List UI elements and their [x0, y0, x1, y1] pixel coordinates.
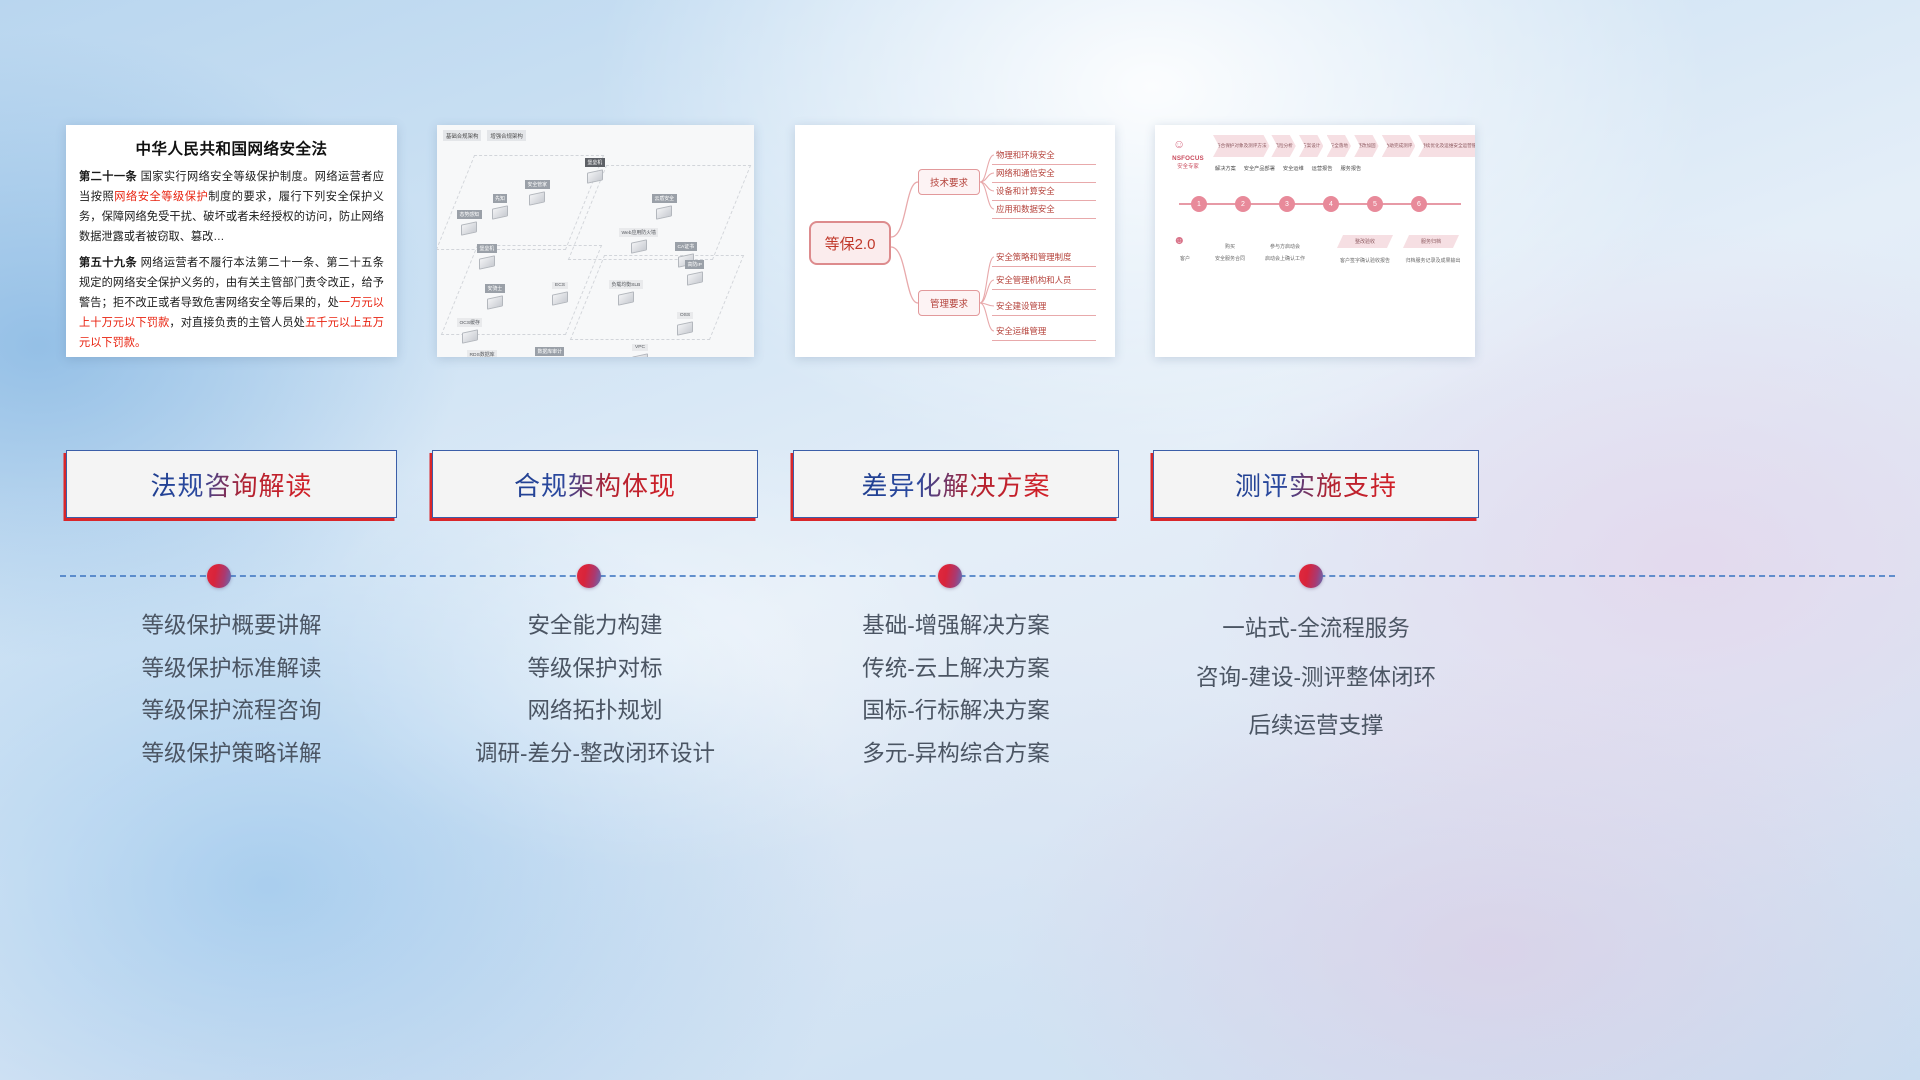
law-card-body: 中华人民共和国网络安全法 第二十一条 国家实行网络安全等级保护制度。网络运营者应… [66, 125, 397, 357]
mindmap-card[interactable]: 等保2.0 技术要求 管理要求 物理和环境安全 网络和通信安全 设备和计算安全 … [795, 125, 1115, 357]
architecture-tab-basic[interactable]: 基础合规架构 [443, 130, 481, 141]
label-text: 差异化解决方案 [861, 466, 1050, 503]
roadmap-header-chips: 符合保护对象及测评方法风险分析方案设计安全落地整改加固协助完成测评持续优化及运维… [1163, 135, 1467, 161]
list-item: 传统-云上解决方案 [793, 648, 1119, 691]
card-row: 中华人民共和国网络安全法 第二十一条 国家实行网络安全等级保护制度。网络运营者应… [0, 125, 1920, 360]
server-box-icon [487, 295, 503, 309]
roadmap-header-chip: 协助完成测评 [1382, 135, 1416, 157]
architecture-node: 堡垒机 [477, 237, 497, 268]
list-item: 国标-行标解决方案 [793, 690, 1119, 733]
list-item: 多元-异构综合方案 [793, 733, 1119, 776]
server-box-icon [656, 205, 672, 219]
label-box-differentiated-solution[interactable]: 差异化解决方案 [793, 450, 1119, 518]
roadmap-footer-kickoff: 参与方启动会 [1259, 243, 1311, 250]
architecture-node: 堡垒机 [585, 151, 605, 182]
server-box-icon [479, 255, 495, 269]
detail-column-differentiated-solution: 基础-增强解决方案 传统-云上解决方案 国标-行标解决方案 多元-异构综合方案 [793, 605, 1119, 775]
law-article-2: 第五十九条 网络运营者不履行本法第二十一条、第二十五条规定的网络安全保护义务的，… [79, 254, 384, 354]
server-box-icon [587, 169, 603, 183]
label-text: 合规架构体现 [514, 466, 676, 503]
list-item: 等级保护概要讲解 [66, 605, 397, 648]
mindmap: 等保2.0 技术要求 管理要求 物理和环境安全 网络和通信安全 设备和计算安全 … [795, 125, 1115, 357]
list-item: 调研-差分-整改闭环设计 [432, 733, 758, 776]
architecture-node-label: OCS缓存 [457, 318, 482, 327]
server-box-icon [552, 291, 568, 305]
architecture-node-label: 高防IP [685, 260, 704, 269]
law-article-1-number: 第二十一条 [79, 171, 137, 183]
architecture-node-label: CA证书 [675, 242, 697, 251]
roadmap-footer-customer: 客户 [1163, 255, 1207, 262]
architecture-node-label: ECS [552, 282, 567, 289]
roadmap: ☺ NSFOCUS 安全专家 符合保护对象及测评方法风险分析方案设计安全落地整改… [1155, 125, 1475, 357]
list-item: 一站式-全流程服务 [1153, 605, 1479, 654]
architecture-node: VPC [632, 335, 648, 357]
architecture-tab-enhanced[interactable]: 增强合规架构 [487, 130, 525, 141]
roadmap-footer-kickoff-sub: 启动会上确认工作 [1255, 255, 1315, 262]
roadmap-card[interactable]: ☺ NSFOCUS 安全专家 符合保护对象及测评方法风险分析方案设计安全落地整改… [1155, 125, 1475, 357]
mindmap-leaf: 应用和数据安全 [992, 201, 1096, 219]
architecture-node-label: 云盾安全 [652, 194, 677, 203]
architecture-node: 态势感知 [457, 203, 482, 234]
architecture-node-label: Web应用防火墙 [619, 228, 658, 237]
roadmap-header-chip: 方案设计 [1299, 135, 1323, 157]
roadmap-header-chip: 风险分析 [1271, 135, 1295, 157]
architecture-tabs: 基础合规架构 增强合规架构 [443, 130, 526, 141]
timeline-dashed-line [60, 575, 1895, 577]
architecture-node-label: 先知 [493, 194, 508, 203]
roadmap-header-chip: 安全落地 [1327, 135, 1351, 157]
architecture-node-label: 安骑士 [485, 284, 505, 293]
timeline-dot-1[interactable] [207, 564, 231, 588]
roadmap-header-chip: 持续优化及运维安全运营服务 [1418, 135, 1475, 157]
roadmap-brand-sub: 安全专家 [1165, 162, 1211, 170]
mindmap-leaf: 安全建设管理 [992, 298, 1096, 316]
architecture-diagram: 基础合规架构 增强合规架构 堡垒机安全管家先知态势感知堡垒机安骑士OCS缓存RD… [437, 125, 754, 357]
architecture-node-label: 安全管家 [525, 180, 550, 189]
detail-column-compliance-architecture: 安全能力构建 等级保护对标 网络拓扑规划 调研-差分-整改闭环设计 [432, 605, 758, 775]
mindmap-leaf: 物理和环境安全 [992, 147, 1096, 165]
label-box-compliance-architecture[interactable]: 合规架构体现 [432, 450, 758, 518]
architecture-node-label: OSS [677, 312, 692, 319]
server-box-icon [631, 239, 647, 253]
roadmap-service-row: 解决方案安全产品部署安全运维运营报告服务报告 [1215, 165, 1361, 172]
timeline-dot-2[interactable] [577, 564, 601, 588]
list-item: 咨询-建设-测评整体闭环 [1153, 654, 1479, 703]
architecture-node-label: 堡垒机 [585, 158, 605, 167]
label-text: 法规咨询解读 [150, 466, 312, 503]
roadmap-tag-acceptance: 整改验收 [1337, 235, 1393, 248]
server-box-icon [462, 329, 478, 343]
server-box-icon [461, 221, 477, 235]
roadmap-footer-contract: 安全服务合同 [1207, 255, 1253, 262]
detail-column-assessment-support: 一站式-全流程服务 咨询-建设-测评整体闭环 后续运营支撑 [1153, 605, 1479, 751]
server-box-icon [687, 271, 703, 285]
architecture-card[interactable]: 基础合规架构 增强合规架构 堡垒机安全管家先知态势感知堡垒机安骑士OCS缓存RD… [437, 125, 754, 357]
mindmap-root-node: 等保2.0 [809, 221, 891, 265]
list-item: 后续运营支撑 [1153, 702, 1479, 751]
architecture-node-label: 堡垒机 [477, 244, 497, 253]
mindmap-leaf: 安全管理机构和人员 [992, 272, 1096, 290]
timeline [60, 564, 1895, 588]
timeline-dot-4[interactable] [1299, 564, 1323, 588]
server-box-icon [632, 353, 648, 357]
roadmap-step-1[interactable]: 1 [1191, 196, 1207, 212]
roadmap-step-2[interactable]: 2 [1235, 196, 1251, 212]
law-card[interactable]: 中华人民共和国网络安全法 第二十一条 国家实行网络安全等级保护制度。网络运营者应… [66, 125, 397, 357]
roadmap-tag-acceptance-sub: 客户签字确认验收报告 [1331, 257, 1399, 264]
server-box-icon [529, 191, 545, 205]
mindmap-branch-technical: 技术要求 [918, 169, 980, 195]
architecture-node: ECS [552, 273, 568, 304]
law-article-1: 第二十一条 国家实行网络安全等级保护制度。网络运营者应当按照网络安全等级保护制度… [79, 168, 384, 248]
label-text: 测评实施支持 [1235, 466, 1397, 503]
law-card-title: 中华人民共和国网络安全法 [79, 137, 384, 159]
architecture-node: 云盾安全 [652, 187, 677, 218]
roadmap-service-item: 安全产品部署 [1244, 165, 1275, 172]
roadmap-service-item: 服务报告 [1340, 165, 1361, 172]
architecture-node-label: 态势感知 [457, 210, 482, 219]
roadmap-tag-archive: 服务归档 [1403, 235, 1459, 248]
architecture-node: 高防IP [685, 253, 704, 284]
architecture-node: RDS数据库 [467, 343, 497, 357]
architecture-node-label: 数据库审计 [535, 347, 564, 356]
label-box-regulation-consulting[interactable]: 法规咨询解读 [66, 450, 397, 518]
timeline-dot-3[interactable] [938, 564, 962, 588]
law-article-1-highlight: 网络安全等级保护 [114, 191, 208, 203]
slide-stage: 中华人民共和国网络安全法 第二十一条 国家实行网络安全等级保护制度。网络运营者应… [0, 0, 1920, 1080]
roadmap-service-item: 解决方案 [1215, 165, 1236, 172]
list-item: 等级保护流程咨询 [66, 690, 397, 733]
architecture-node: 数据库审计 [535, 340, 564, 357]
roadmap-footer-buy: 购买 [1213, 243, 1247, 250]
architecture-node: 先知 [492, 187, 508, 218]
customer-person-icon: ☻ [1173, 233, 1186, 247]
label-row: 法规咨询解读 合规架构体现 差异化解决方案 测评实施支持 [0, 450, 1920, 520]
roadmap-step-3[interactable]: 3 [1279, 196, 1295, 212]
roadmap-tag-archive-sub: 归档服务记录及成果输出 [1399, 257, 1467, 264]
architecture-node: OCS缓存 [457, 311, 482, 342]
roadmap-step-4[interactable]: 4 [1323, 196, 1339, 212]
architecture-node: 负载均衡SLB [609, 273, 643, 304]
list-item: 等级保护标准解读 [66, 648, 397, 691]
list-item: 网络拓扑规划 [432, 690, 758, 733]
architecture-zone-4 [570, 255, 744, 340]
architecture-node-label: VPC [632, 344, 647, 351]
server-box-icon [492, 205, 508, 219]
server-box-icon [677, 321, 693, 335]
roadmap-header-chip: 整改加固 [1354, 135, 1378, 157]
architecture-node: 安全管家 [525, 173, 550, 204]
roadmap-header-chip: 符合保护对象及测评方法 [1213, 135, 1270, 157]
mindmap-branch-management: 管理要求 [918, 290, 980, 316]
list-item: 安全能力构建 [432, 605, 758, 648]
mindmap-leaf: 安全策略和管理制度 [992, 249, 1096, 267]
architecture-node: Web应用防火墙 [619, 221, 658, 252]
mindmap-leaf: 设备和计算安全 [992, 183, 1096, 201]
architecture-node-label: 负载均衡SLB [609, 280, 643, 289]
roadmap-service-item: 运营报告 [1312, 165, 1333, 172]
mindmap-leaf: 网络和通信安全 [992, 165, 1096, 183]
list-item: 基础-增强解决方案 [793, 605, 1119, 648]
list-item: 等级保护策略详解 [66, 733, 397, 776]
law-article-2-seg-3: ，对直接负责的主管人员处 [169, 317, 305, 329]
roadmap-step-6[interactable]: 6 [1411, 196, 1427, 212]
server-box-icon [618, 291, 634, 305]
list-item: 等级保护对标 [432, 648, 758, 691]
architecture-node: 安骑士 [485, 277, 505, 308]
architecture-node-label: RDS数据库 [467, 350, 497, 357]
detail-column-regulation-consulting: 等级保护概要讲解 等级保护标准解读 等级保护流程咨询 等级保护策略详解 [66, 605, 397, 775]
mindmap-leaf: 安全运维管理 [992, 323, 1096, 341]
label-box-assessment-support[interactable]: 测评实施支持 [1153, 450, 1479, 518]
law-article-2-number: 第五十九条 [79, 257, 137, 269]
architecture-node: OSS [677, 303, 693, 334]
roadmap-step-5[interactable]: 5 [1367, 196, 1383, 212]
roadmap-service-item: 安全运维 [1283, 165, 1304, 172]
